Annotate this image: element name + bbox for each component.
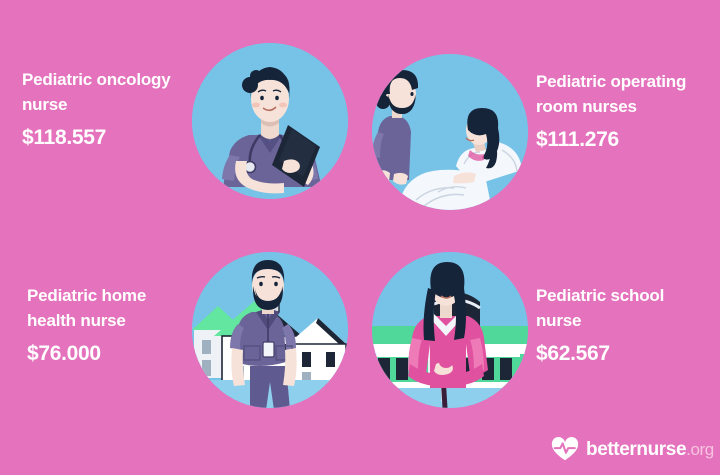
logo-wordmark: betternurse.org (586, 439, 714, 461)
role-title: Pediatric oncology nurse (22, 68, 197, 117)
role-title: Pediatric operating room nurses (536, 70, 714, 119)
role-salary: $76.000 (27, 342, 202, 366)
logo-name: betternurse (586, 439, 686, 460)
heart-pulse-icon (551, 437, 579, 462)
role-salary: $62.567 (536, 342, 714, 366)
logo-tld: .org (686, 440, 714, 459)
illustration-oncology-nurse (192, 43, 348, 199)
role-title: Pediatric home health nurse (27, 284, 202, 333)
nurse-at-bedside-icon (372, 54, 528, 210)
illustration-home-health-nurse (192, 252, 348, 408)
role-title: Pediatric school nurse (536, 284, 714, 333)
role-salary: $111.276 (536, 128, 714, 152)
role-label-pediatric-oncology-nurse: Pediatric oncology nurse $118.557 (22, 68, 197, 150)
betternurse-logo[interactable]: betternurse.org (551, 437, 714, 462)
nurse-in-front-of-house-icon (192, 252, 348, 408)
salary-infographic: Pediatric oncology nurse $118.557 Pediat… (0, 0, 720, 475)
illustration-operating-room-nurses (372, 54, 528, 210)
role-label-pediatric-operating-room-nurses: Pediatric operating room nurses $111.276 (536, 70, 714, 152)
role-label-pediatric-home-health-nurse: Pediatric home health nurse $76.000 (27, 284, 202, 366)
role-salary: $118.557 (22, 126, 197, 150)
nurse-with-clipboard-icon (192, 43, 348, 199)
illustration-school-nurse (372, 252, 528, 408)
role-label-pediatric-school-nurse: Pediatric school nurse $62.567 (536, 284, 714, 366)
nurse-in-front-of-school-icon (372, 252, 528, 408)
